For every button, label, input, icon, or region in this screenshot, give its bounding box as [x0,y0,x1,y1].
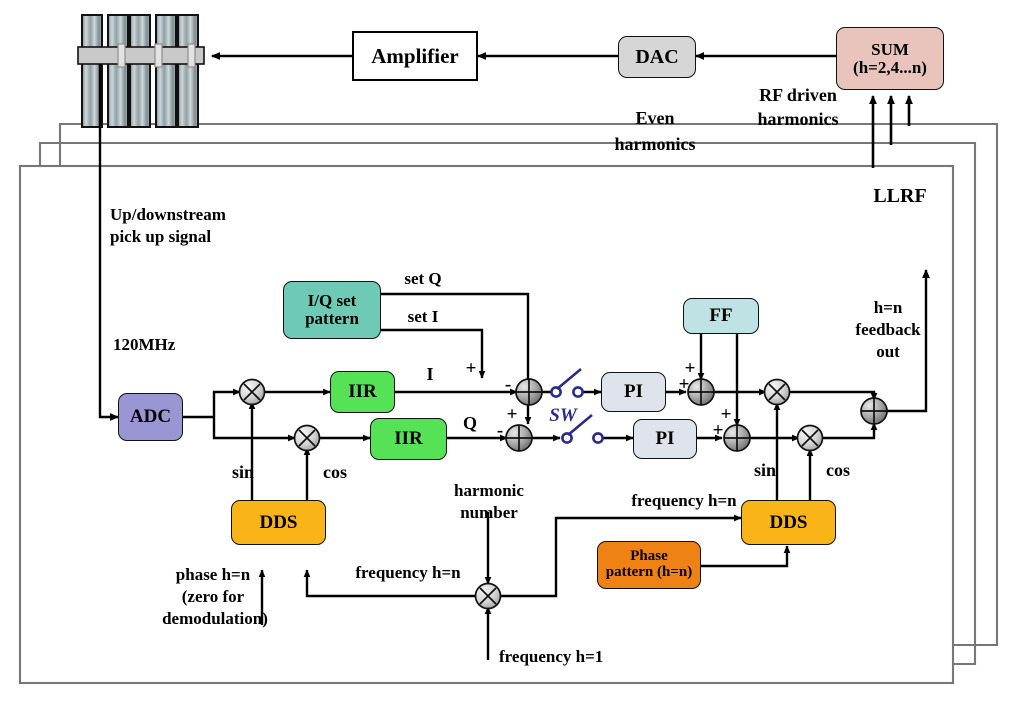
sum-block[interactable]: SUM (h=2,4...n) [836,27,944,90]
iq-set-pattern-block[interactable]: I/Q set pattern [283,281,381,339]
ff-i-plus-left: + [676,374,692,395]
mod-mixer-q-node [798,426,823,451]
dac-block[interactable]: DAC [618,36,696,78]
amplifier-block[interactable]: Amplifier [352,31,478,81]
q-signal-label: Q [455,413,485,433]
mixer-i-node [240,380,265,405]
mixer-q-node [295,426,320,451]
phase-pattern-line1: Phase [630,549,668,565]
harmonic-multiplier-node [476,584,501,609]
diagram-canvas: Amplifier DAC SUM (h=2,4...n) ADC IIR II… [0,0,1015,706]
iir-i-block[interactable]: IIR [330,371,395,413]
llrf-label: LLRF [855,185,945,207]
beam-pipe [78,47,204,64]
adc-block[interactable]: ADC [118,393,183,441]
sum-label: SUM [871,41,909,59]
harmonic-number-line1: harmonic [433,481,545,500]
sin-right-label: sin [740,460,790,480]
ff-block[interactable]: FF [683,298,759,334]
sum-sublabel: (h=2,4...n) [853,59,927,77]
sin-left-label: sin [218,462,268,482]
phase-hn-line3: demodulation) [140,609,290,628]
cos-right-label: cos [813,460,863,480]
sum-junction-q [506,425,532,451]
phase-pattern-line2: pattern (h=n) [606,565,692,581]
set-i-label: set I [388,307,458,326]
sum-i-plus: + [463,358,479,379]
pi-i-block[interactable]: PI [601,372,666,412]
feedback-out-line2: feedback [843,320,933,339]
mod-mixer-i-node [765,380,790,405]
rf-harmonics-label: harmonics [728,109,868,129]
harmonic-number-line2: number [433,503,545,522]
even-label: Even [600,108,710,128]
sum-i-minus: - [500,374,516,395]
feedback-out-line3: out [843,342,933,361]
sum-junction-i [516,379,542,405]
i-signal-label: I [415,364,445,384]
iq-set-line2: pattern [305,310,359,328]
iir-q-block[interactable]: IIR [370,418,447,460]
frequency-h1-label: frequency h=1 [499,647,659,666]
sum-junction-output [861,398,887,424]
even-harmonics-label: harmonics [580,134,730,154]
set-q-label: set Q [388,269,458,288]
iq-set-line1: I/Q set [308,292,357,310]
sw-label: SW [538,405,588,426]
sum-q-minus: - [492,420,508,441]
phase-pattern-block[interactable]: Phase pattern (h=n) [597,541,701,589]
phase-hn-line1: phase h=n [148,565,278,584]
ff-q-plus-left: + [710,420,726,441]
cos-left-label: cos [310,462,360,482]
phase-hn-line2: (zero for [148,587,278,606]
frequency-hn-left-label: frequency h=n [328,563,488,582]
rf-driven-label: RF driven [728,85,868,105]
feedback-out-line1: h=n [843,298,933,317]
pi-q-block[interactable]: PI [633,419,697,459]
dds-left-block[interactable]: DDS [231,500,326,545]
frequency-hn-right-label: frequency h=n [604,491,764,510]
pickup-label-line2: pick up signal [110,227,330,246]
sum-junction-ff-q [724,425,750,451]
pickup-label-line1: Up/downstream [110,205,330,224]
clock-label: 120MHz [113,335,213,354]
